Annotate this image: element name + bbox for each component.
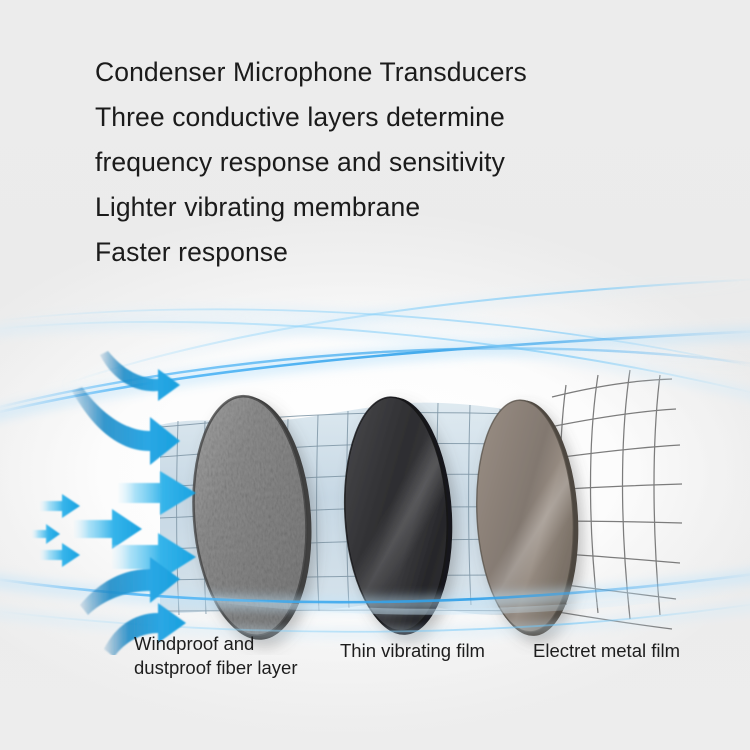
caption-electret-metal-film: Electret metal film xyxy=(533,639,680,663)
heading-line-2: Three conductive layers determine xyxy=(95,95,715,140)
heading-block: Condenser Microphone Transducers Three c… xyxy=(95,50,715,275)
caption-thin-vibrating-film: Thin vibrating film xyxy=(340,639,485,663)
heading-line-5: Faster response xyxy=(95,230,715,275)
heading-line-4: Lighter vibrating membrane xyxy=(95,185,715,230)
caption-windproof-dustproof-fiber-layer: Windproof and dustproof fiber layer xyxy=(134,632,298,680)
transducer-layer-diagram xyxy=(0,275,750,655)
heading-line-3: frequency response and sensitivity xyxy=(95,140,715,185)
heading-line-1: Condenser Microphone Transducers xyxy=(95,50,715,95)
product-infographic: Condenser Microphone Transducers Three c… xyxy=(0,0,750,750)
